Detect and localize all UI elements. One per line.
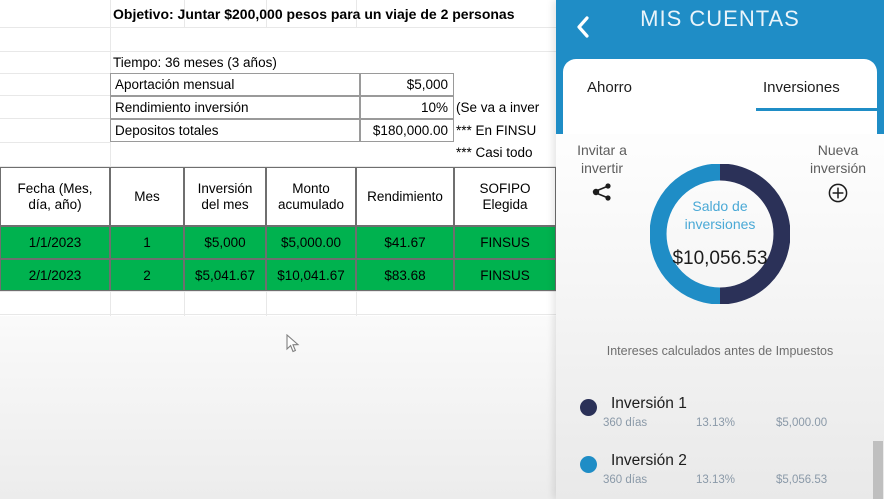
interest-note: Intereses calculados antes de Impuestos [556,344,884,358]
invite-label-line2: invertir [562,160,642,178]
donut-label-line1: Saldo de [650,198,790,216]
side-note-1: (Se va a inver [456,100,539,115]
grid-line [0,118,110,119]
grid-line [0,291,556,292]
investments-donut-chart: Saldo de inversiones $10,056.53 [650,164,790,304]
donut-center-label: Saldo de inversiones [650,198,790,233]
legend-rate: 13.13% [696,417,735,429]
grid-line [0,27,556,28]
donut-total-amount: $10,056.53 [650,248,790,270]
param-value-depositos: $180,000.00 [360,119,454,142]
new-label-line2: inversión [796,160,880,178]
mouse-cursor [286,334,300,354]
legend-amount: $5,000.00 [776,417,827,429]
table-row: 2/1/2023 [0,259,110,291]
table-header-inversion: Inversión del mes [184,167,266,226]
table-header-sofipo: SOFIPO Elegida [454,167,556,226]
invite-to-invest-action[interactable]: Invitar a invertir [562,142,642,202]
table-row: $83.68 [356,259,454,291]
param-label-depositos: Depositos totales [110,119,360,142]
scrollbar-track[interactable] [872,0,884,499]
grid-line [0,73,110,74]
tab-active-underline [756,108,884,111]
invite-label-line1: Invitar a [562,142,642,160]
grid-line [0,95,110,96]
grid-line [0,314,556,315]
legend-name: Inversión 2 [611,452,687,470]
tiempo-label: Tiempo: 36 meses (3 años) [113,51,277,73]
param-value-rendimiento: 10% [360,96,454,119]
grid-line [0,51,556,52]
chevron-left-icon[interactable] [570,14,596,40]
grid-line [0,142,110,143]
table-row: $10,041.67 [266,259,356,291]
side-note-2: *** En FINSU [456,123,536,138]
legend-days: 360 días [603,474,647,486]
investments-content: Invitar a invertir Nueva inversión [556,134,884,499]
legend-name: Inversión 1 [611,395,687,413]
table-row: 1/1/2023 [0,226,110,259]
table-row: 2 [110,259,184,291]
table-header-mes: Mes [110,167,184,226]
side-note-3: *** Casi todo [456,145,533,160]
objective-title: Objetivo: Juntar $200,000 pesos para un … [113,2,515,26]
tab-ahorro[interactable]: Ahorro [587,79,632,96]
table-row: FINSUS [454,259,556,291]
new-investment-action[interactable]: Nueva inversión [796,142,880,204]
donut-segment-inversion-1 [720,172,782,296]
legend-color-dot [580,456,597,473]
grid-line [266,291,267,316]
donut-segment-inversion-2 [658,172,720,296]
legend-amount: $5,056.53 [776,474,827,486]
tabs-card: Ahorro Inversiones [563,59,877,134]
new-label-line1: Nueva [796,142,880,160]
table-row: $5,000.00 [266,226,356,259]
param-label-aportacion: Aportación mensual [110,73,360,96]
table-row: $41.67 [356,226,454,259]
donut-svg [650,164,790,304]
table-header-fecha: Fecha (Mes, día, año) [0,167,110,226]
table-row: $5,041.67 [184,259,266,291]
tab-inversiones[interactable]: Inversiones [763,79,840,96]
param-label-rendimiento: Rendimiento inversión [110,96,360,119]
share-icon[interactable] [562,182,642,202]
table-header-rendimiento: Rendimiento [356,167,454,226]
legend-days: 360 días [603,417,647,429]
table-row: FINSUS [454,226,556,259]
table-row: 1 [110,226,184,259]
mobile-app-panel: MIS CUENTAS Ahorro Inversiones Invitar a… [556,0,884,499]
grid-line [356,291,357,316]
param-value-aportacion: $5,000 [360,73,454,96]
plus-circle-icon[interactable] [796,182,880,204]
grid-line [110,291,111,316]
legend-color-dot [580,399,597,416]
donut-label-line2: inversiones [650,216,790,234]
legend-rate: 13.13% [696,474,735,486]
scrollbar-thumb[interactable] [873,441,883,499]
grid-line [184,291,185,316]
table-header-monto: Monto acumulado [266,167,356,226]
page-title: MIS CUENTAS [556,6,884,32]
table-row: $5,000 [184,226,266,259]
